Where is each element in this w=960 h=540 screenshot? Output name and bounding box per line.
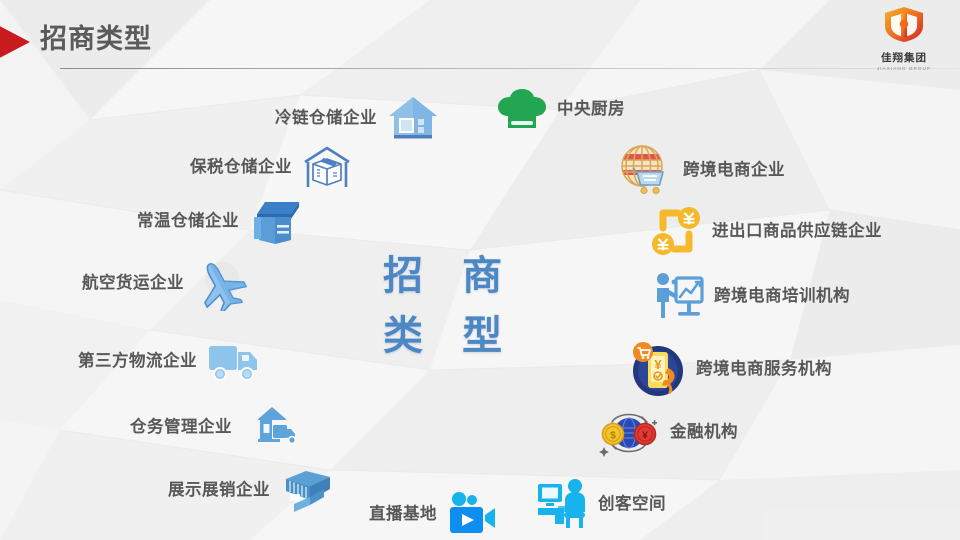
- svg-text:$: $: [610, 431, 616, 442]
- logo-name-cn: 佳翔集团: [866, 50, 942, 65]
- svg-text:¥: ¥: [654, 357, 662, 372]
- item-label: 展示展销企业: [168, 482, 270, 499]
- item-label: 跨境电商培训机构: [714, 288, 850, 305]
- center-title-line1: 招 商: [383, 246, 516, 306]
- training-presentation-icon: [650, 270, 706, 322]
- item-exhibition-store[interactable]: 展示展销企业: [168, 465, 336, 515]
- slide-header: 招商类型 佳翔集团 JIAXIANG GROUP: [0, 0, 960, 80]
- item-label: 保税仓储企业: [190, 159, 292, 176]
- item-warehouse-management[interactable]: 仓务管理企业: [130, 403, 298, 451]
- page-title: 招商类型: [40, 22, 152, 56]
- exhibition-store-icon: [278, 465, 336, 515]
- item-label: 常温仓储企业: [137, 213, 239, 230]
- shield-logo-icon: [866, 4, 942, 44]
- item-third-party-logistics[interactable]: 第三方物流企业: [78, 338, 263, 384]
- globe-shopping-cart-icon: [617, 142, 675, 198]
- mobile-payment-service-icon: ¥: [626, 338, 688, 400]
- svg-text:¥: ¥: [642, 431, 648, 442]
- center-title-line2: 类 型: [383, 306, 516, 366]
- item-central-kitchen[interactable]: 中央厨房: [495, 85, 625, 133]
- item-label: 跨境电商服务机构: [696, 361, 832, 378]
- item-air-freight[interactable]: 航空货运企业: [82, 255, 250, 311]
- item-bonded-warehouse[interactable]: 保税仓储企业: [190, 142, 354, 192]
- item-cold-chain-warehouse[interactable]: 冷链仓储企业: [275, 92, 441, 144]
- item-ambient-warehouse[interactable]: 常温仓储企业: [137, 196, 305, 246]
- slide-root: 招商类型 佳翔集团 JIAXIANG GROUP: [0, 0, 960, 540]
- ambient-warehouse-icon: [247, 196, 305, 246]
- yuan-exchange-brackets-icon: [648, 203, 704, 259]
- item-label: 航空货运企业: [82, 275, 184, 292]
- item-maker-space[interactable]: 创客空间: [534, 478, 666, 530]
- item-import-export-supply-chain[interactable]: 进出口商品供应链企业: [648, 203, 882, 259]
- item-financial-institution[interactable]: $ ¥ 金融机构: [596, 402, 738, 462]
- item-ecommerce-service[interactable]: ¥ 跨境电商服务机构: [626, 338, 832, 400]
- company-logo: 佳翔集团 JIAXIANG GROUP: [866, 4, 942, 66]
- center-title: 招 商 类 型: [383, 246, 516, 366]
- item-label: 进出口商品供应链企业: [712, 223, 882, 240]
- item-label: 冷链仓储企业: [275, 110, 377, 127]
- delivery-truck-icon: [205, 338, 263, 384]
- item-label: 直播基地: [369, 506, 437, 523]
- item-live-streaming-base[interactable]: 直播基地: [369, 491, 501, 537]
- item-label: 金融机构: [670, 424, 738, 441]
- item-cross-border-ecommerce[interactable]: 跨境电商企业: [617, 142, 785, 198]
- item-label: 中央厨房: [557, 101, 625, 118]
- header-arrow-icon: [0, 22, 30, 62]
- header-divider: [60, 68, 960, 69]
- item-label: 跨境电商企业: [683, 162, 785, 179]
- item-label: 创客空间: [598, 496, 666, 513]
- logo-name-en: JIAXIANG GROUP: [866, 66, 942, 71]
- cold-chain-warehouse-icon: [385, 92, 441, 144]
- item-label: 第三方物流企业: [78, 353, 197, 370]
- air-freight-plane-icon: [192, 255, 250, 311]
- chef-hat-icon: [495, 85, 549, 133]
- item-ecommerce-training[interactable]: 跨境电商培训机构: [650, 270, 850, 322]
- maker-space-desk-icon: [534, 478, 590, 530]
- currency-exchange-globe-icon: $ ¥: [596, 402, 662, 462]
- bonded-warehouse-icon: [300, 142, 354, 192]
- warehouse-management-icon: [240, 403, 298, 451]
- live-streaming-camera-icon: [445, 491, 501, 537]
- item-label: 仓务管理企业: [130, 419, 232, 436]
